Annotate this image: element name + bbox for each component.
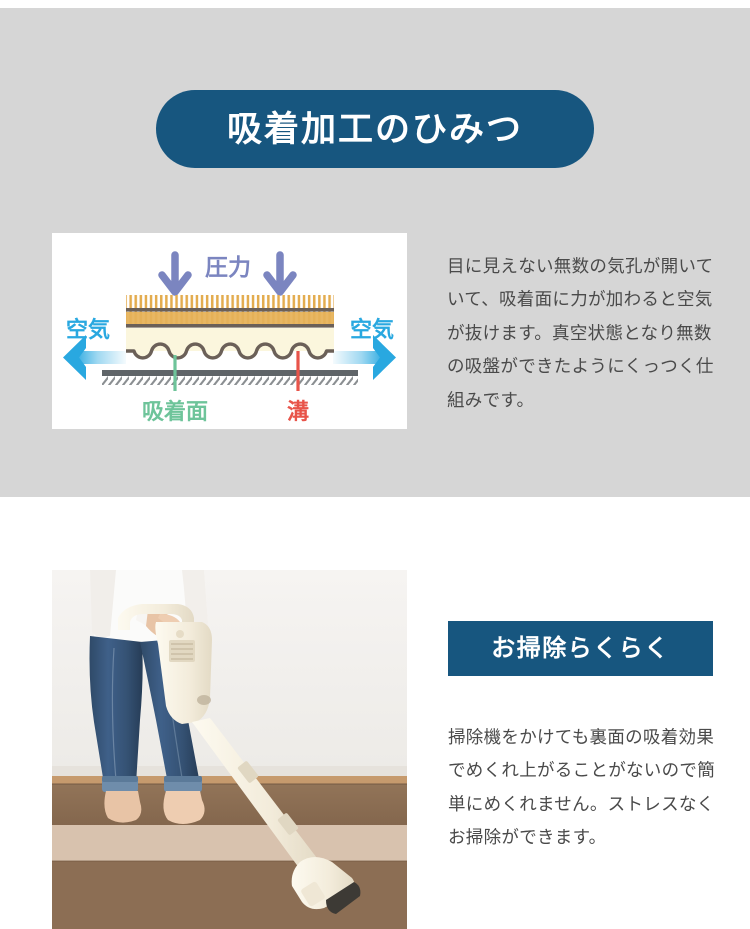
- section-title-text: 吸着加工のひみつ: [227, 112, 523, 147]
- cleaning-body-text: 掃除機をかけても裏面の吸着効果でめくれ上がることがないので簡単にめくれません。ス…: [448, 721, 716, 855]
- groove-label: 溝: [287, 399, 309, 424]
- secret-section: 吸着加工のひみつ: [0, 8, 750, 497]
- air-label-left: 空気: [66, 317, 110, 342]
- air-label-right: 空気: [350, 317, 394, 342]
- adhesion-diagram: 圧力 空気 空気: [52, 233, 407, 429]
- secret-body-text: 目に見えない無数の気孔が開いていて、吸着面に力が加わると空気が抜けます。真空状態…: [447, 250, 715, 418]
- cleaning-section: お掃除らくらく 掃除機をかけても裏面の吸着効果でめくれ上がることがないので簡単に…: [0, 497, 750, 929]
- cleaning-heading-banner: お掃除らくらく: [448, 621, 713, 676]
- adhesive-surface-label: 吸着面: [142, 399, 208, 424]
- pressure-label: 圧力: [205, 254, 251, 280]
- vacuuming-photo: [52, 570, 407, 929]
- cleaning-heading-text: お掃除らくらく: [491, 637, 670, 661]
- floor-surface: [102, 370, 358, 385]
- section-title-pill: 吸着加工のひみつ: [156, 90, 594, 168]
- secret-content-row: 圧力 空気 空気: [0, 233, 750, 443]
- carpet-cross-section: [126, 295, 334, 358]
